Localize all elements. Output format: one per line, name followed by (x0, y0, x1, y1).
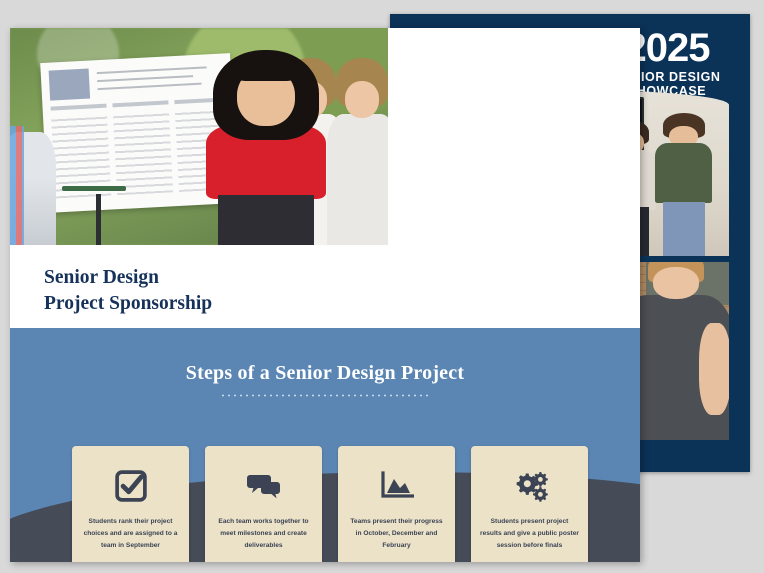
step-card-text: Students present project results and giv… (471, 516, 588, 553)
step-card-text: Students rank their project choices and … (72, 516, 189, 553)
gears-icon (512, 466, 548, 506)
steps-heading: Steps of a Senior Design Project (10, 362, 640, 385)
photo-student-presenting-poster-outdoors (10, 28, 388, 245)
page-title: Senior Design Project Sponsorship (44, 265, 212, 316)
step-card[interactable]: Students present project results and giv… (471, 446, 588, 562)
steps-panel: Steps of a Senior Design Project Student… (10, 328, 640, 562)
chart-mountain-icon (380, 466, 414, 506)
sponsorship-slide[interactable]: Senior Design Project Sponsorship Steps … (10, 28, 640, 562)
speech-bubbles-icon (246, 466, 282, 506)
step-card-text: Teams present their progress in October,… (338, 516, 455, 553)
page-title-line1: Senior Design (44, 265, 212, 291)
presenting-student (206, 50, 326, 245)
slide-title-band: Senior Design Project Sponsorship (10, 245, 388, 328)
checkbox-checked-icon (114, 466, 148, 506)
step-card[interactable]: Teams present their progress in October,… (338, 446, 455, 562)
page-title-line2: Project Sponsorship (44, 291, 212, 317)
step-card[interactable]: Each team works together to meet milesto… (205, 446, 322, 562)
steps-card-list: Students rank their project choices and … (72, 446, 588, 562)
step-card-text: Each team works together to meet milesto… (205, 516, 322, 553)
step-card[interactable]: Students rank their project choices and … (72, 446, 189, 562)
dotted-divider (220, 394, 430, 397)
